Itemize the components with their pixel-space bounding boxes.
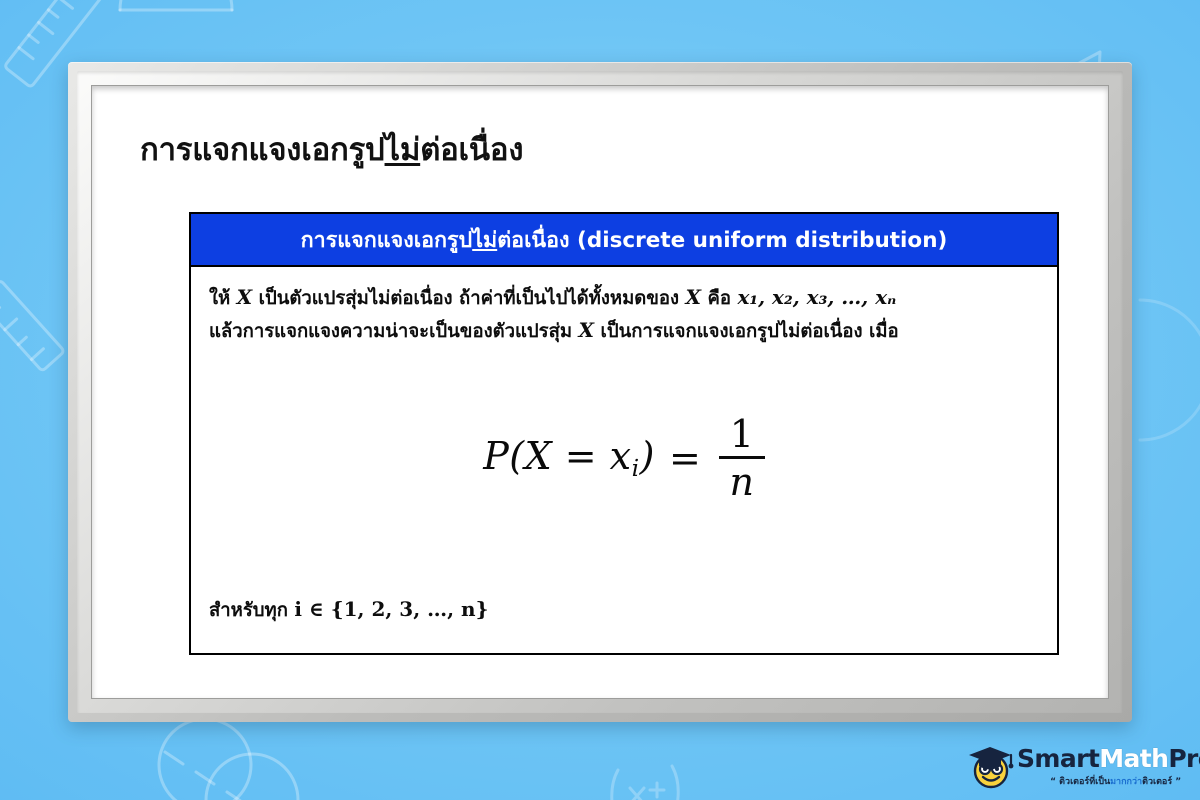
definition-condition-line: สำหรับทุก i ∈ {1, 2, 3, …, n} [209,596,488,625]
probability-formula: P(X = xi) = 1 n [191,415,1057,501]
fraction-numerator: 1 [722,415,762,456]
line2-segment-2: เป็นการแจกแจงเอกรูปไม่ต่อเนื่อง เมื่อ [594,321,899,342]
formula-lhs-text: P(X = x [483,434,631,478]
page-title: การแจกแจงเอกรูปไม่ต่อเนื่อง [140,124,523,174]
line1-variable-x-second: X [686,285,702,309]
definition-header-label: การแจกแจงเอกรูปไม่ต่อเนื่อง (discrete un… [301,223,948,257]
formula-lhs-subscript: i [632,454,640,482]
page-title-suffix: ต่อเนื่อง [420,132,523,168]
logo-name-smart: Smart [1017,744,1099,773]
formula-lhs-close: ) [640,434,655,478]
definition-header-prefix: การแจกแจงเอกรูป [301,228,473,253]
logo-tagline-highlight: มากกว่า [1110,777,1142,787]
definition-line-1: ให้ X เป็นตัวแปรสุ่มไม่ต่อเนื่อง ถ้าค่าท… [209,281,1039,314]
logo-name-math: Math [1099,744,1168,773]
logo-name: SmartMathPro [1017,746,1200,771]
logo-wordmark: SmartMathPro “ ติวเตอร์ที่เป็นมากกว่าติว… [1017,746,1200,788]
logo-tagline-suffix: ติวเตอร์ ” [1142,777,1181,787]
line1-variable-x-first: X [237,285,253,309]
page-title-prefix: การแจกแจงเอกรูป [140,132,385,168]
fraction-denominator: n [722,459,762,501]
graduate-smiley-icon [963,744,1015,790]
line1-segment-3: คือ [701,288,737,309]
condition-prefix: สำหรับทุก [209,600,294,621]
definition-line-2: แล้วการแจกแจงความน่าจะเป็นของตัวแปรสุ่ม … [209,314,1039,347]
logo-name-pro: Pro [1168,744,1200,773]
line1-value-list: x₁, x₂, x₃, …, xₙ [737,285,896,309]
logo-tagline: “ ติวเตอร์ที่เป็นมากกว่าติวเตอร์ ” [1017,774,1200,788]
formula-equals-sign: = [669,436,701,480]
page-title-underlined: ไม่ [385,132,421,168]
formula-fraction: 1 n [719,415,765,501]
definition-header-underlined: ไม่ [472,228,497,253]
line2-variable-x: X [579,318,595,342]
smartmathpro-logo: SmartMathPro “ ติวเตอร์ที่เป็นมากกว่าติว… [963,738,1195,796]
definition-header: การแจกแจงเอกรูปไม่ต่อเนื่อง (discrete un… [191,214,1057,267]
condition-set-expression: i ∈ {1, 2, 3, …, n} [294,597,488,621]
logo-tagline-prefix: “ ติวเตอร์ที่เป็น [1050,777,1110,787]
line2-segment-1: แล้วการแจกแจงความน่าจะเป็นของตัวแปรสุ่ม [209,321,579,342]
line1-segment-2: เป็นตัวแปรสุ่มไม่ต่อเนื่อง ถ้าค่าที่เป็น… [252,288,685,309]
definition-body: ให้ X เป็นตัวแปรสุ่มไม่ต่อเนื่อง ถ้าค่าท… [191,267,1057,653]
definition-box: การแจกแจงเอกรูปไม่ต่อเนื่อง (discrete un… [189,212,1059,655]
formula-left-hand-side: P(X = xi) [483,434,655,482]
definition-header-suffix: ต่อเนื่อง (discrete uniform distribution… [497,228,947,253]
line1-segment-1: ให้ [209,288,237,309]
slide-surface: การแจกแจงเอกรูปไม่ต่อเนื่อง การแจกแจงเอก… [92,86,1108,698]
whiteboard-frame: การแจกแจงเอกรูปไม่ต่อเนื่อง การแจกแจงเอก… [68,62,1132,722]
